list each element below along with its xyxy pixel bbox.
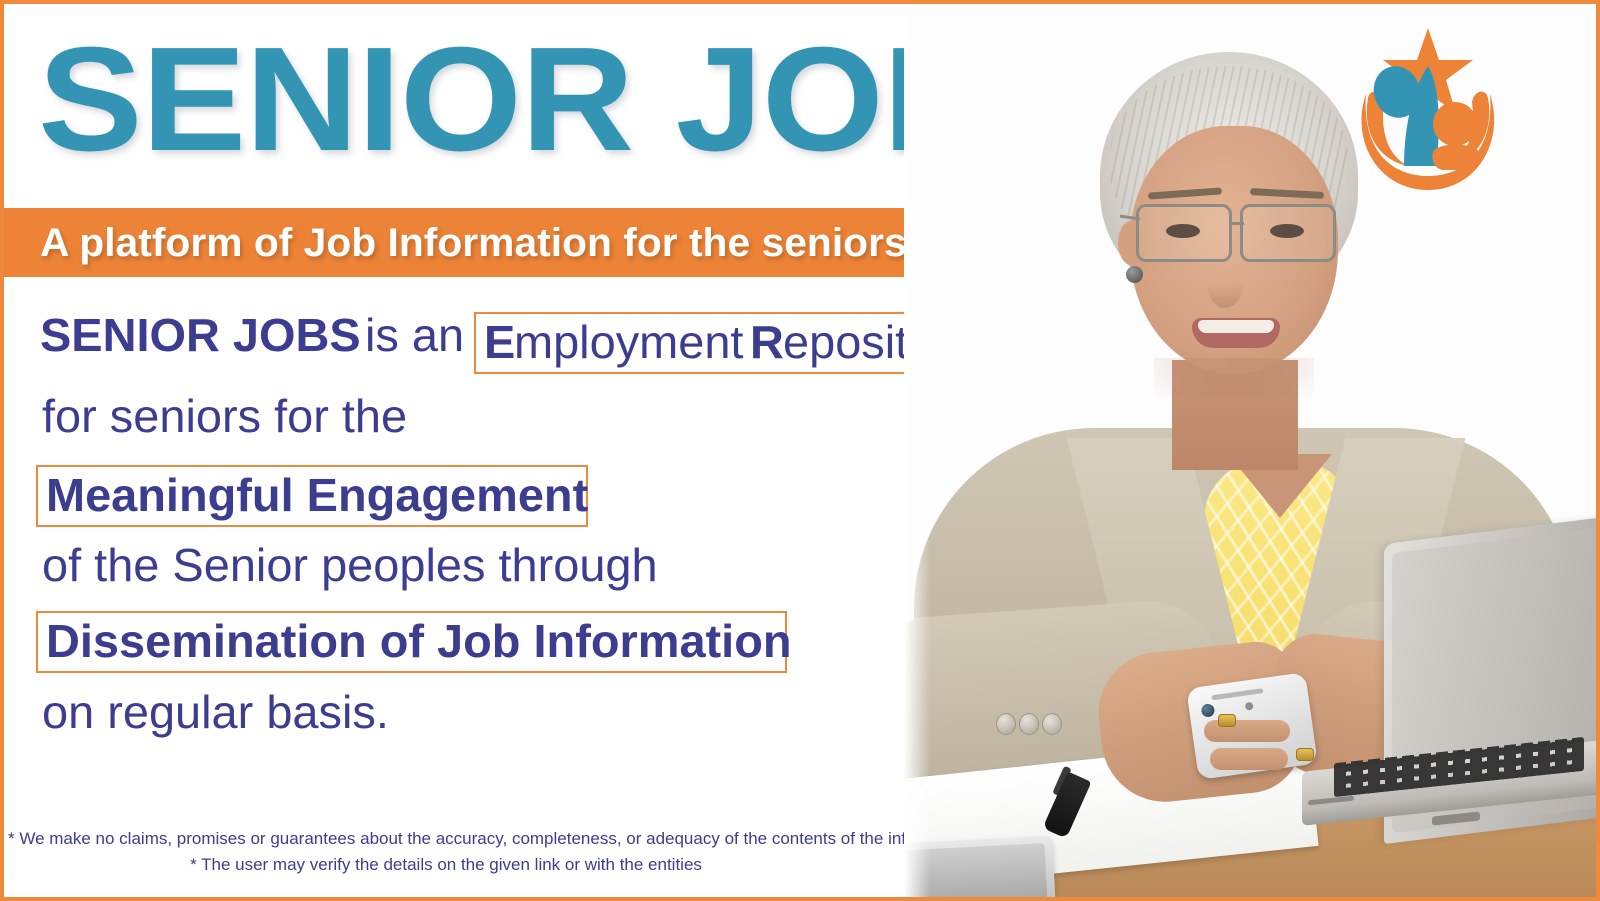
highlight-box-dissemination-of-job-information: Dissemination of Job Information bbox=[36, 611, 787, 673]
highlight-mployment: mployment bbox=[514, 319, 755, 365]
description-line-6: on regular basis. bbox=[42, 689, 382, 761]
cuff-buttons bbox=[996, 713, 1068, 737]
logo-orange-figure-body-icon bbox=[1432, 144, 1480, 170]
description-line-1-text: is an bbox=[365, 312, 475, 358]
eyeglasses-bridge bbox=[1232, 222, 1244, 225]
phone-sensor bbox=[1245, 702, 1254, 711]
highlight-r: R bbox=[750, 319, 784, 365]
ring-right bbox=[1296, 748, 1314, 761]
logo-svg bbox=[1342, 20, 1512, 200]
teeth bbox=[1198, 320, 1274, 333]
description-line-5: Dissemination of Job Information bbox=[36, 611, 787, 683]
tagline-bar: A platform of Job Information for the se… bbox=[4, 208, 966, 277]
highlight-e: E bbox=[484, 319, 515, 365]
phone-camera bbox=[1201, 703, 1216, 718]
finger bbox=[1210, 748, 1288, 770]
description-line-4: of the Senior peoples through bbox=[42, 542, 646, 614]
finger bbox=[1204, 720, 1290, 742]
disclaimer-line-1: * We make no claims, promises or guarant… bbox=[8, 826, 884, 852]
highlight-meaningful-engagement-text: Meaningful Engagement bbox=[46, 472, 588, 518]
logo-orange-head-icon bbox=[1433, 102, 1477, 146]
brand-name-inline: SENIOR JOBS bbox=[40, 312, 372, 358]
disclaimer-line-2: * The user may verify the details on the… bbox=[8, 852, 884, 878]
nose bbox=[1206, 252, 1244, 308]
description-line-4-text: of the Senior peoples through bbox=[42, 542, 658, 588]
earring bbox=[1126, 266, 1143, 283]
description-line-6-text: on regular basis. bbox=[42, 689, 389, 735]
description-line-3: Meaningful Engagement bbox=[36, 465, 588, 537]
highlight-dissemination-text: Dissemination of Job Information bbox=[46, 618, 792, 664]
eyeglasses-right-lens bbox=[1240, 204, 1336, 262]
disclaimer-block: * We make no claims, promises or guarant… bbox=[8, 826, 884, 879]
phone-speaker bbox=[1211, 688, 1263, 700]
senior-jobs-banner: SENIOR JOBS A platform of Job Informatio… bbox=[0, 0, 1600, 901]
chin-shadow bbox=[1154, 358, 1314, 398]
description-line-2-text: for seniors for the bbox=[42, 393, 407, 439]
highlight-box-meaningful-engagement: Meaningful Engagement bbox=[36, 465, 588, 527]
mouth bbox=[1192, 318, 1280, 348]
ring-left bbox=[1218, 714, 1236, 727]
photo-left-fade bbox=[904, 8, 930, 901]
tagline-text: A platform of Job Information for the se… bbox=[40, 223, 918, 263]
senior-jobs-logo bbox=[1342, 20, 1512, 200]
description-line-2: for seniors for the bbox=[42, 393, 400, 465]
description-line-1: SENIOR JOBS is an EmploymentRepository bbox=[40, 312, 980, 384]
